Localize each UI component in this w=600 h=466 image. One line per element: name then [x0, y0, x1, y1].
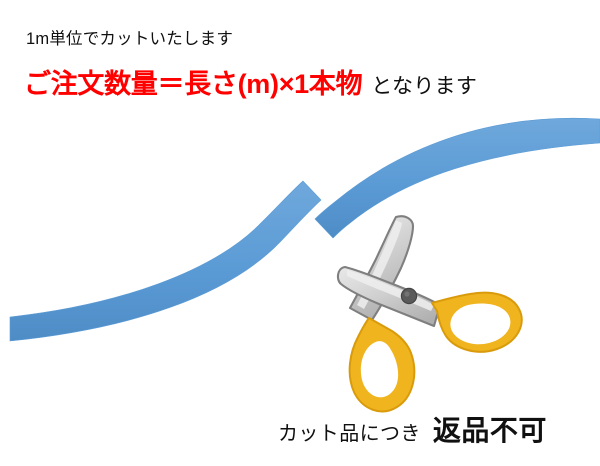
- scissors-pivot-highlight: [404, 291, 409, 296]
- cut-unit-caption: 1m単位でカットいたします: [26, 30, 233, 48]
- order-quantity-formula-tail: となります: [362, 75, 477, 98]
- no-return-notice: カット品につき返品不可: [278, 416, 547, 447]
- cut-notice-image: 1m単位でカットいたします ご注文数量＝長さ(m)×1本物となります カット品に…: [0, 0, 600, 466]
- order-quantity-formula: ご注文数量＝長さ(m)×1本物となります: [24, 70, 477, 100]
- scissors-pivot-screw: [401, 288, 416, 303]
- order-quantity-formula-red: ご注文数量＝長さ(m)×1本物: [24, 69, 362, 99]
- no-return-notice-strong: 返品不可: [421, 415, 547, 446]
- no-return-notice-lead: カット品につき: [278, 423, 421, 445]
